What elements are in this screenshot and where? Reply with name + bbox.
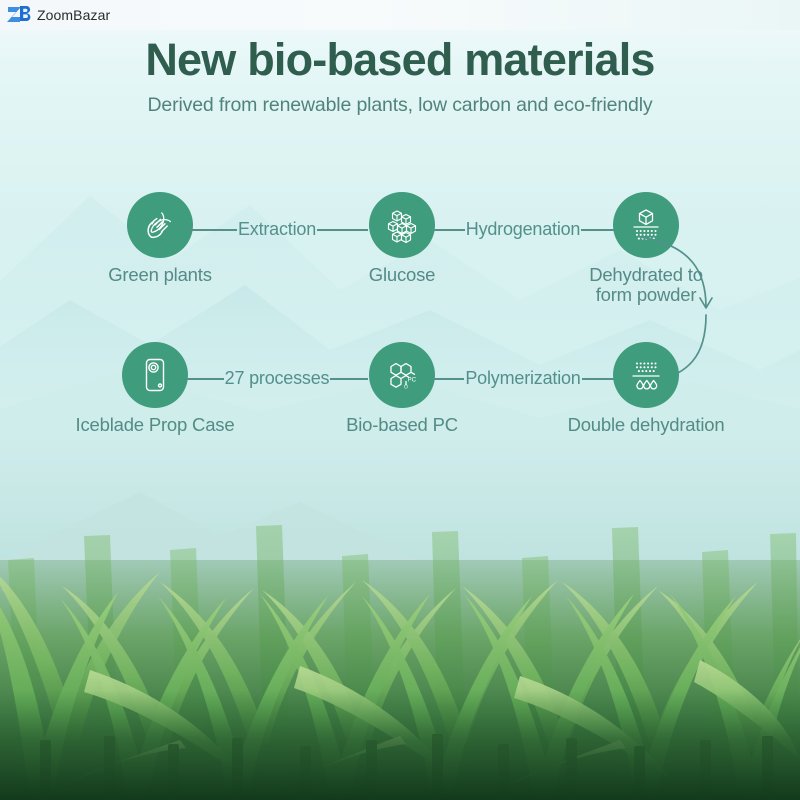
green-plants-circle	[127, 192, 193, 258]
sugar-cubes-icon	[382, 205, 422, 245]
flow-node-label: Iceblade Prop Case	[65, 415, 245, 435]
connector-line-left	[432, 378, 464, 380]
sugarcane-illustration	[0, 440, 800, 800]
phone-case-icon	[135, 355, 175, 395]
connector-line-left	[432, 229, 465, 231]
connector-label: Extraction	[237, 219, 317, 240]
brand-name: ZoomBazar	[37, 7, 110, 23]
zb-logo-icon[interactable]	[6, 4, 32, 26]
process-flow-diagram: Green plants Extraction	[0, 0, 800, 470]
flow-node-green-plants[interactable]: Green plants	[70, 192, 250, 285]
flow-node-label: Glucose	[312, 265, 492, 285]
flow-node-label: Bio-based PC	[312, 415, 492, 435]
glucose-circle	[369, 192, 435, 258]
connector-line-left	[186, 229, 237, 231]
connector-line-left	[186, 378, 224, 380]
svg-text:PC: PC	[408, 377, 417, 384]
sugarcane-field-photo	[0, 440, 800, 800]
flow-node-label: Double dehydration	[556, 415, 736, 435]
svg-text:O: O	[404, 384, 408, 390]
infographic-page: New bio-based materials Derived from ren…	[0, 0, 800, 800]
flow-node-label: Green plants	[70, 265, 250, 285]
flow-node-iceblade-prop-case[interactable]: Iceblade Prop Case	[65, 342, 245, 435]
corn-cob-icon	[140, 205, 180, 245]
powder-droplets-icon	[626, 355, 666, 395]
watermark-header: ZoomBazar	[0, 0, 800, 30]
bio-based-pc-circle: PC O	[369, 342, 435, 408]
pc-molecule-icon: PC O	[382, 355, 422, 395]
flow-node-double-dehydration[interactable]: Double dehydration	[556, 342, 736, 435]
iceblade-prop-case-circle	[122, 342, 188, 408]
double-dehydration-circle	[613, 342, 679, 408]
